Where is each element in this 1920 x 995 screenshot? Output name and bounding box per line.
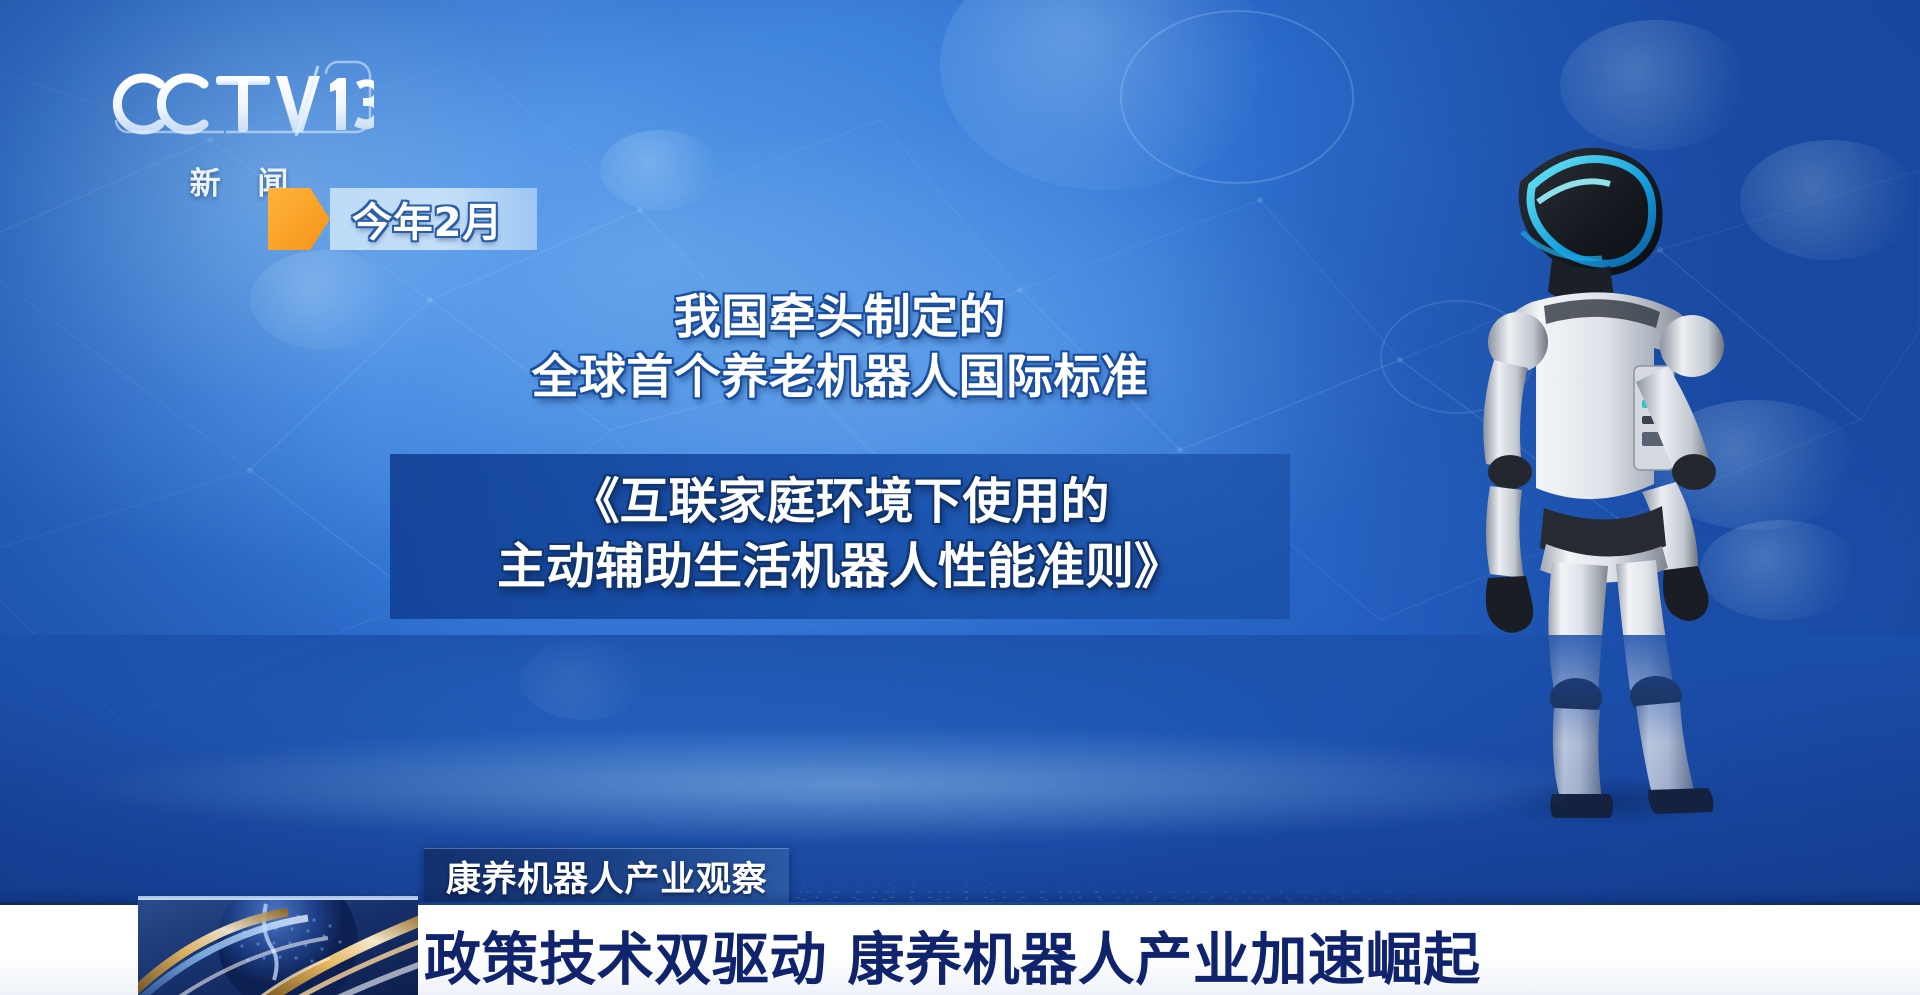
cctv13-logo-icon	[104, 60, 374, 156]
broadcast-frame: 新 闻 今年2月 我国牵头制定的 全球首个养老机器人国际标准 《互联家庭环境下使…	[0, 0, 1920, 995]
date-tag-plate: 今年2月	[330, 188, 537, 250]
highlight-box: 《互联家庭环境下使用的 主动辅助生活机器人性能准则》	[390, 454, 1290, 619]
kicker-label: 康养机器人产业观察	[446, 851, 767, 902]
highlight-line-1: 《互联家庭环境下使用的	[390, 470, 1290, 535]
date-tag: 今年2月	[268, 188, 537, 250]
highlight-line-2: 主动辅助生活机器人性能准则》	[390, 535, 1290, 600]
news-headline: 政策技术双驱动 康养机器人产业加速崛起	[424, 932, 1481, 989]
kicker-strap: 康养机器人产业观察	[424, 848, 789, 903]
cctv13-logo: 新 闻	[104, 60, 374, 203]
main-copy-line-2: 全球首个养老机器人国际标准	[440, 348, 1240, 408]
news-globe-icon	[138, 896, 418, 995]
arrow-marker-icon	[268, 188, 330, 250]
main-copy-line-1: 我国牵头制定的	[440, 288, 1240, 348]
main-copy-block: 我国牵头制定的 全球首个养老机器人国际标准	[440, 288, 1240, 408]
date-tag-label: 今年2月	[352, 190, 503, 248]
